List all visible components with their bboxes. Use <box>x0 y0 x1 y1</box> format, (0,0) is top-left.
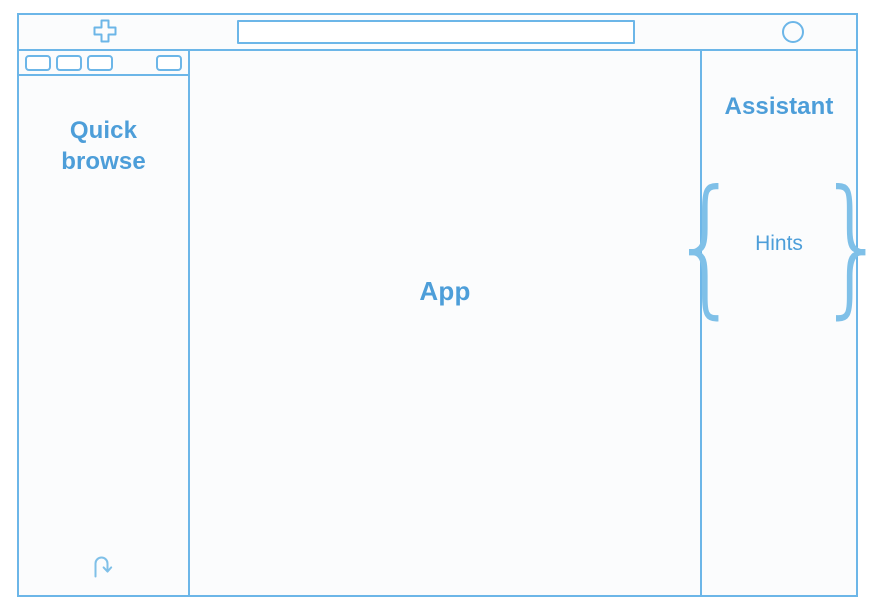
hints-label: Hints <box>755 232 803 256</box>
hints-block: { Hints } <box>709 173 849 315</box>
content-area: Quick browse App Assistant { <box>17 51 858 597</box>
sidebar-title: Quick browse <box>39 116 169 177</box>
tool-button-2[interactable] <box>56 55 82 71</box>
tool-button-4[interactable] <box>156 55 182 71</box>
wireframe-frame: Quick browse App Assistant { <box>17 13 858 597</box>
top-bar-left-section <box>19 15 191 49</box>
tool-button-3[interactable] <box>87 55 113 71</box>
top-bar <box>17 13 858 51</box>
circle-avatar-icon[interactable] <box>782 21 804 43</box>
sidebar-body: Quick browse <box>19 76 188 595</box>
app-panel: App <box>190 51 702 597</box>
sidebar-panel: Quick browse <box>17 51 190 597</box>
url-input[interactable] <box>237 20 635 44</box>
tool-button-1[interactable] <box>25 55 51 71</box>
top-bar-right-section <box>701 15 856 49</box>
top-bar-center-section <box>191 15 701 49</box>
sidebar-toolbar <box>19 51 188 76</box>
u-turn-arrow-icon[interactable] <box>89 551 119 581</box>
assistant-panel: Assistant { Hints } <box>702 51 858 597</box>
assistant-title: Assistant <box>725 93 834 121</box>
sidebar-footer <box>19 551 188 581</box>
plus-icon[interactable] <box>92 19 118 45</box>
app-title: App <box>419 276 470 307</box>
